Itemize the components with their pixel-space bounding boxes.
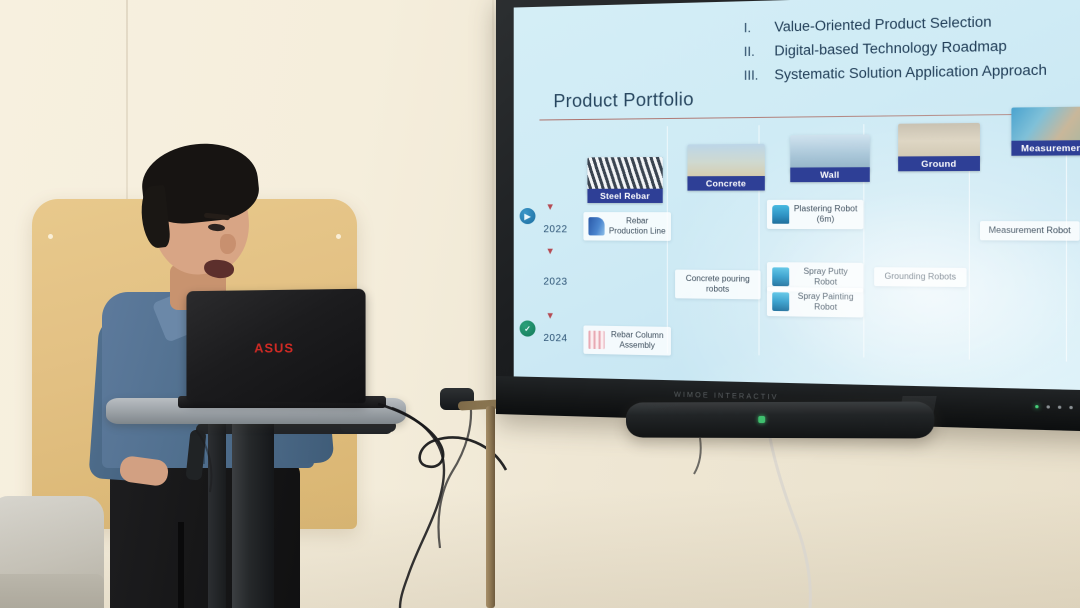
item-label: Concrete pouring robots (680, 274, 755, 295)
display-screen[interactable]: I. Value-Oriented Product Selection II. … (514, 0, 1080, 391)
microphone-stand (486, 406, 495, 608)
item-card[interactable]: Measurement Robot (980, 221, 1080, 241)
plastering-icon (772, 205, 789, 224)
category-ground[interactable]: Ground (898, 123, 980, 162)
item-card[interactable]: Spray Painting Robot (767, 287, 863, 317)
presentation-scene: ASUS I. Value-Oriented Product Selection (0, 0, 1080, 608)
agenda-item: III. Systematic Solution Application App… (744, 61, 1080, 83)
category-label: Measurement (1011, 140, 1080, 156)
item-card[interactable]: Grounding Robots (874, 267, 966, 287)
leg-seam (178, 522, 184, 608)
category-steel-rebar[interactable]: Steel Rebar (587, 157, 662, 194)
category-label: Steel Rebar (587, 189, 662, 203)
item-card[interactable]: Concrete pouring robots (675, 270, 761, 300)
item-label: Rebar Production Line (609, 216, 666, 237)
agenda-list: I. Value-Oriented Product Selection II. … (744, 11, 1080, 91)
agenda-numeral: III. (744, 68, 765, 83)
lectern-column (232, 420, 274, 608)
timeline-year: 2022 (543, 224, 567, 235)
laptop[interactable]: ASUS (186, 289, 365, 404)
item-label: Spray Painting Robot (793, 291, 857, 313)
timeline-year: 2024 (543, 333, 567, 345)
rebar-line-icon (588, 217, 604, 235)
item-label: Rebar Column Assembly (609, 330, 666, 351)
chevron-down-icon: ▾ (547, 204, 558, 211)
display-brand-logo: WIMOE INTERACTIV (674, 392, 779, 402)
display-indicator-leds (1035, 405, 1080, 410)
category-label: Wall (790, 167, 870, 182)
category-label: Concrete (687, 176, 764, 191)
category-header-row: Steel Rebar Concrete Wall Ground (587, 128, 1080, 190)
item-card[interactable]: Rebar Column Assembly (583, 325, 671, 355)
spray-icon (772, 267, 789, 286)
category-measurement[interactable]: Measurement (1011, 107, 1080, 147)
category-label: Ground (898, 156, 980, 171)
wall-display[interactable]: I. Value-Oriented Product Selection II. … (496, 0, 1080, 432)
agenda-text: Digital-based Technology Roadmap (774, 38, 1006, 59)
soundbar[interactable] (626, 401, 934, 438)
agenda-numeral: II. (744, 44, 765, 59)
column-icon (588, 331, 604, 350)
panel-stud (48, 234, 53, 239)
agenda-text: Systematic Solution Application Approach (774, 62, 1047, 83)
asus-logo: ASUS (254, 341, 294, 356)
agenda-item: I. Value-Oriented Product Selection (744, 11, 1080, 35)
spray-icon (772, 292, 789, 311)
agenda-text: Value-Oriented Product Selection (774, 14, 991, 35)
category-wall[interactable]: Wall (790, 135, 870, 173)
slide-title: Product Portfolio (553, 89, 693, 112)
item-label: Grounding Robots (880, 271, 961, 282)
chevron-down-icon: ▾ (547, 313, 558, 320)
item-card[interactable]: Rebar Production Line (583, 212, 671, 241)
timeline-year: 2023 (543, 276, 567, 287)
agenda-item: II. Digital-based Technology Roadmap (744, 36, 1080, 59)
item-label: Spray Putty Robot (793, 266, 857, 288)
item-label: Measurement Robot (986, 225, 1074, 236)
title-divider (539, 113, 1080, 121)
timeline-marker-end[interactable]: ✓ (520, 320, 536, 336)
slide: I. Value-Oriented Product Selection II. … (514, 0, 1080, 391)
item-label: Plastering Robot (6m) (793, 204, 857, 225)
agenda-numeral: I. (744, 20, 765, 35)
timeline-marker-start[interactable]: ▶ (520, 208, 536, 224)
chevron-down-icon: ▾ (547, 248, 558, 255)
category-concrete[interactable]: Concrete (687, 144, 764, 182)
soundbar-power-led (758, 416, 765, 423)
item-card[interactable]: Plastering Robot (6m) (767, 200, 863, 229)
lectern-column (208, 424, 226, 608)
